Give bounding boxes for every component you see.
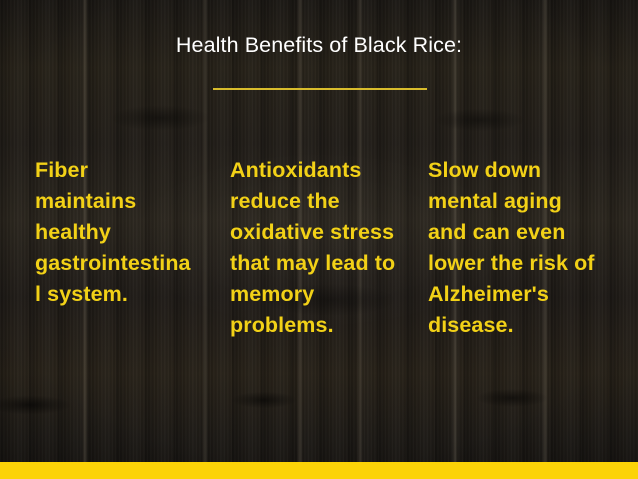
page-title: Health Benefits of Black Rice: [0, 33, 638, 58]
benefit-column-2: Antioxidants reduce the oxidative stress… [230, 155, 398, 395]
title-underline-rule [213, 88, 427, 90]
bottom-accent-bar [0, 462, 638, 479]
benefit-column-3: Slow down mental aging and can even lowe… [428, 155, 598, 395]
slide-canvas: Health Benefits of Black Rice: Fiber mai… [0, 0, 638, 479]
benefits-columns: Fiber maintains healthy gastrointestinal… [0, 155, 638, 395]
benefit-column-1: Fiber maintains healthy gastrointestinal… [35, 155, 195, 395]
